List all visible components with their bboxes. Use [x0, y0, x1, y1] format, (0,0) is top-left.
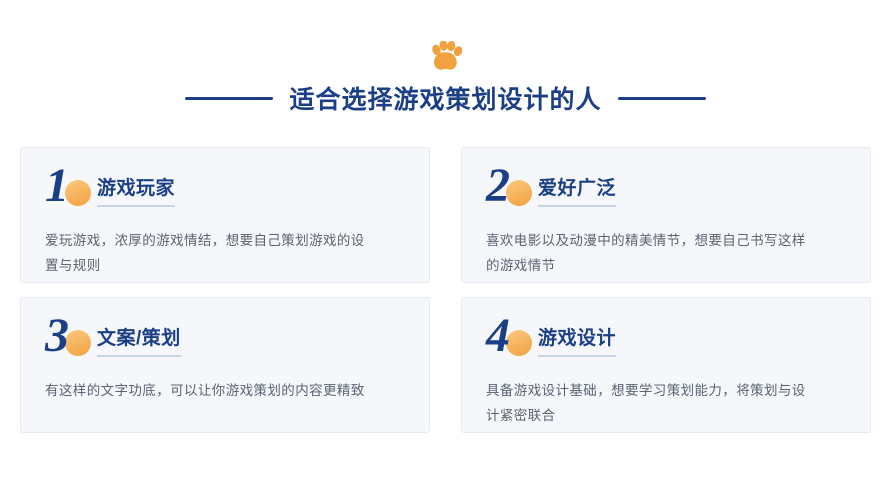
card-title-wrap: 文案/策划 — [97, 320, 181, 357]
card-title-underline — [538, 205, 616, 207]
title-rule-right — [618, 97, 706, 100]
info-card[interactable]: 2 爱好广泛 喜欢电影以及动漫中的精美情节，想要自己书写这样的游戏情节 — [461, 147, 871, 283]
info-card[interactable]: 1 游戏玩家 爱玩游戏，浓厚的游戏情结，想要自己策划游戏的设置与规则 — [20, 147, 430, 283]
card-number: 3 — [45, 312, 69, 360]
info-card[interactable]: 4 游戏设计 具备游戏设计基础，想要学习策划能力，将策划与设计紧密联合 — [461, 297, 871, 433]
title-rule-left — [185, 97, 273, 100]
page-title-row: 适合选择游戏策划设计的人 — [0, 80, 891, 116]
card-body: 有这样的文字功底，可以让你游戏策划的内容更精致 — [45, 378, 375, 403]
card-number-wrap: 1 — [45, 170, 97, 216]
card-header: 1 游戏玩家 — [45, 170, 405, 214]
card-header: 2 爱好广泛 — [486, 170, 846, 214]
card-number: 4 — [486, 312, 510, 360]
card-title-wrap: 爱好广泛 — [538, 170, 616, 207]
card-title-wrap: 游戏设计 — [538, 320, 616, 357]
card-number: 2 — [486, 162, 510, 210]
card-header: 4 游戏设计 — [486, 320, 846, 364]
paw-print-icon — [428, 41, 464, 73]
card-title-underline — [538, 355, 616, 357]
card-title: 游戏玩家 — [97, 173, 175, 200]
card-number: 1 — [45, 162, 69, 210]
paw-print-icon-wrap — [0, 40, 891, 74]
card-header: 3 文案/策划 — [45, 320, 405, 364]
info-card[interactable]: 3 文案/策划 有这样的文字功底，可以让你游戏策划的内容更精致 — [20, 297, 430, 433]
card-title: 游戏设计 — [538, 323, 616, 350]
card-body: 爱玩游戏，浓厚的游戏情结，想要自己策划游戏的设置与规则 — [45, 228, 375, 278]
card-body: 具备游戏设计基础，想要学习策划能力，将策划与设计紧密联合 — [486, 378, 816, 428]
cards-grid: 1 游戏玩家 爱玩游戏，浓厚的游戏情结，想要自己策划游戏的设置与规则 2 爱好广… — [20, 147, 871, 433]
card-title-wrap: 游戏玩家 — [97, 170, 175, 207]
page-title: 适合选择游戏策划设计的人 — [289, 80, 601, 116]
card-title-underline — [97, 205, 175, 207]
card-title: 爱好广泛 — [538, 173, 616, 200]
card-number-wrap: 3 — [45, 320, 97, 366]
card-title-underline — [97, 355, 181, 357]
card-body: 喜欢电影以及动漫中的精美情节，想要自己书写这样的游戏情节 — [486, 228, 816, 278]
page-root: 适合选择游戏策划设计的人 1 游戏玩家 爱玩游戏，浓厚的游戏情结，想要自己策划游… — [0, 0, 891, 480]
card-number-wrap: 4 — [486, 320, 538, 366]
card-title: 文案/策划 — [97, 323, 181, 350]
card-number-wrap: 2 — [486, 170, 538, 216]
